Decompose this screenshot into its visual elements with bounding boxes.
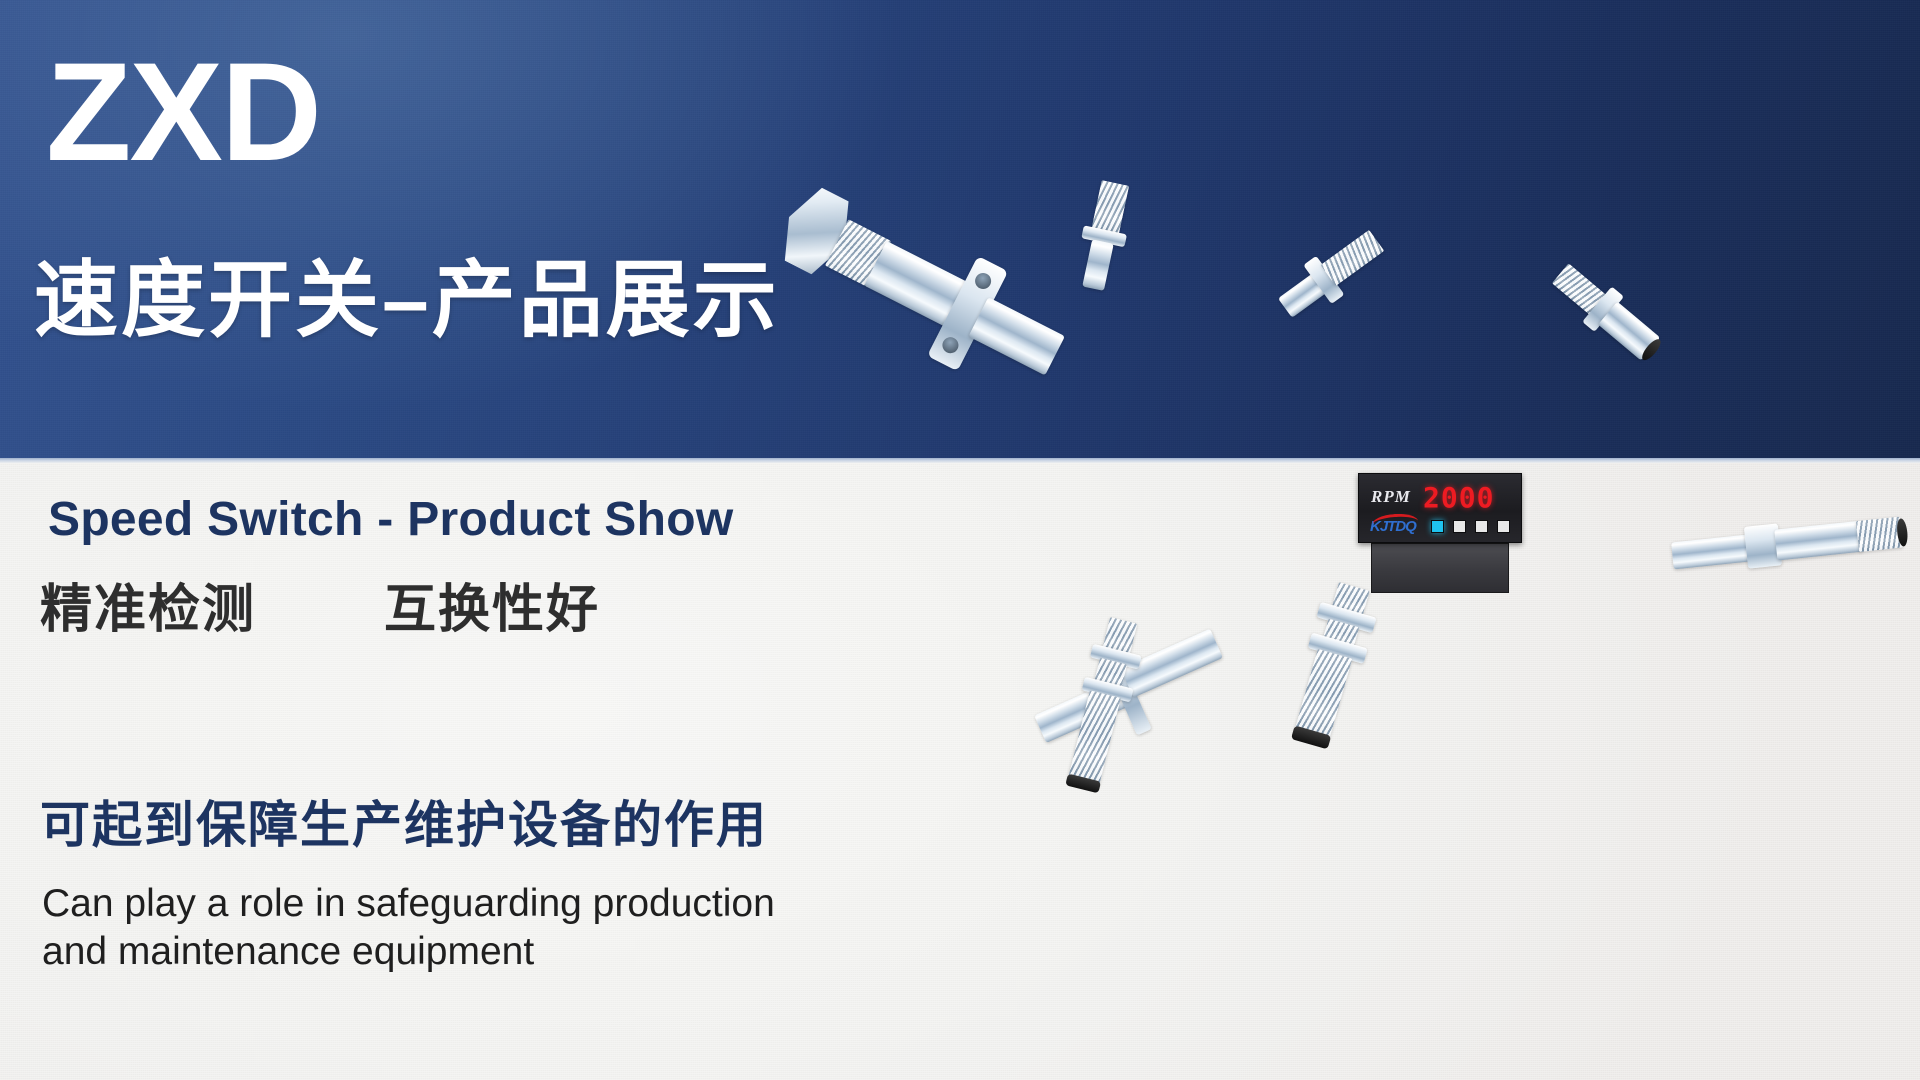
tagline-english: Can play a role in safeguarding producti… (42, 880, 775, 975)
kjtdq-logo: KJTDQ (1370, 518, 1416, 535)
tagline-chinese: 可起到保障生产维护设备的作用 (40, 800, 768, 850)
feature-item-interchangeability: 互换性好 (384, 584, 600, 636)
sensor-tail (1671, 534, 1751, 569)
led-indicator-3[interactable] (1475, 520, 1488, 533)
headline-chinese: 速度开关–产品展示 (34, 258, 780, 342)
rpm-unit-label: RPM (1371, 487, 1411, 507)
body-light-area (0, 463, 1920, 1080)
sensor-body (1774, 521, 1863, 561)
meter-indicator-leds (1431, 520, 1510, 533)
led-indicator-4[interactable] (1497, 520, 1510, 533)
meter-housing (1371, 543, 1509, 593)
tagline-english-line-2: and maintenance equipment (42, 928, 775, 976)
headline-english: Speed Switch - Product Show (48, 496, 734, 544)
threaded-barrel (1091, 180, 1129, 235)
led-indicator-2[interactable] (1453, 520, 1466, 533)
threaded-tip (1856, 517, 1903, 552)
product-banner: RPM 2000 KJTDQ ZXD 速度开关–产品展示 Speed Switc… (0, 0, 1920, 1080)
led-indicator-1[interactable] (1431, 520, 1444, 533)
rpm-value-readout: 2000 (1423, 481, 1494, 514)
threaded-barrel (1320, 230, 1384, 286)
sensor-shaft (1082, 239, 1113, 291)
rpm-display-device[interactable]: RPM 2000 KJTDQ (1358, 473, 1522, 593)
feature-item-precision: 精准检测 (40, 584, 256, 636)
feature-list: 精准检测 互换性好 (40, 584, 600, 636)
meter-front-panel: RPM 2000 KJTDQ (1358, 473, 1522, 543)
tagline-english-line-1: Can play a role in safeguarding producti… (42, 880, 775, 928)
output-shaft (968, 297, 1065, 375)
main-thread-barrel (1068, 690, 1121, 787)
brand-logo-zxd: ZXD (46, 42, 320, 182)
